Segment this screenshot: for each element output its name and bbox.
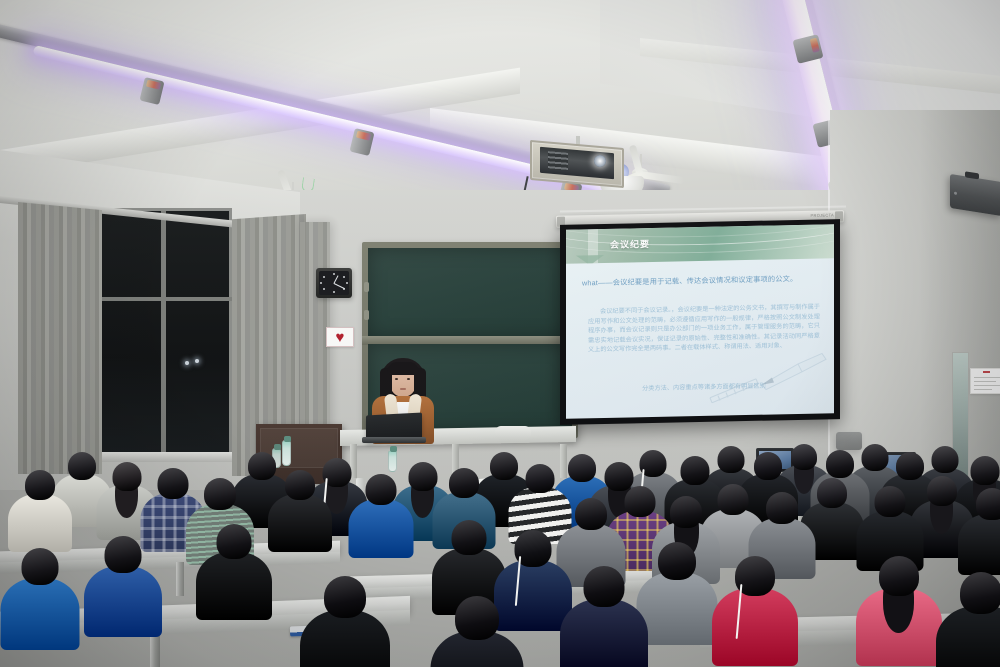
student-head [584,566,625,607]
student-head [766,492,798,524]
presenter-laptop-base [362,437,426,443]
student-head [25,470,55,500]
student-head [879,556,919,596]
heart-icon: ♥ [336,330,345,345]
classroom-window [96,208,232,458]
student-head [817,478,847,508]
student-silhouette [8,470,72,558]
student-torso [958,514,1000,575]
student-silhouette [0,548,79,657]
slide-header-banner [566,224,834,264]
student-silhouette [348,474,413,564]
student-head [874,486,905,517]
student-head [112,462,141,491]
student-head [927,476,957,506]
screen-brand-label: PROJECTA [811,212,834,217]
projector-vent-icon [548,151,568,171]
student-head [670,496,702,528]
blackboard-panel-upper [368,248,572,338]
student-torso [636,572,717,645]
student-torso [348,499,413,558]
wall-clock [316,268,352,298]
student-torso [712,588,798,666]
blackboard-clip-icon [364,310,369,320]
student-silhouette [430,596,523,667]
presentation-slide: 会议纪要 what——会议纪要是用于记载、传达会议情况和议定事项的公文。 会议纪… [566,224,834,419]
student-head [365,474,396,505]
student-torso [8,494,72,552]
curtain[interactable] [18,202,102,474]
student-head [575,498,607,530]
student-head [970,456,999,485]
student-silhouette [196,524,272,627]
notice-paper [970,368,1000,394]
student-head [960,572,1000,614]
student-head [624,486,655,517]
desk-leg [176,562,184,596]
desk-equipment [495,426,531,440]
student-head [204,478,236,510]
blackboard-clip-icon [364,282,369,292]
student-head [680,456,709,485]
student-torso [0,578,79,650]
student-torso [84,566,162,637]
student-silhouette [856,556,942,667]
student-silhouette [958,488,1000,581]
student-head [157,468,188,499]
student-head [976,488,1000,520]
student-head [754,452,782,480]
student-head [717,484,748,515]
student-silhouette [936,572,1000,667]
student-silhouette [84,536,162,644]
student-silhouette [636,542,717,653]
student-head [826,450,854,478]
student-head [449,468,479,498]
student-head [285,470,315,500]
student-silhouette [560,566,648,667]
student-head [658,542,696,580]
student-torso [560,599,648,667]
student-silhouette [268,470,332,558]
student-head [324,576,366,618]
student-head [525,464,554,493]
student-torso [196,552,272,620]
lecture-hall-photo: ♥ PROJECTA 会议纪要 what——会议纪要是用于记载、传达会议情况和议… [0,0,1000,667]
student-head [105,536,142,573]
student-head [452,520,487,555]
student-head [21,548,58,585]
student-head [217,524,252,559]
slide-lead-text: what——会议纪要是用于记载、传达会议情况和议定事项的公文。 [582,272,822,289]
student-torso [300,610,390,667]
student-head [455,596,499,640]
projection-screen: 会议纪要 what——会议纪要是用于记载、传达会议情况和议定事项的公文。 会议纪… [560,219,840,425]
slide-title: 会议纪要 [610,237,650,251]
heart-poster: ♥ [326,327,354,347]
student-silhouette [712,556,798,667]
pen-watermark-icon [702,343,830,408]
student-silhouette [300,576,390,667]
student-torso [936,606,1000,667]
student-torso [268,494,332,552]
projector-lens-icon [594,155,606,167]
